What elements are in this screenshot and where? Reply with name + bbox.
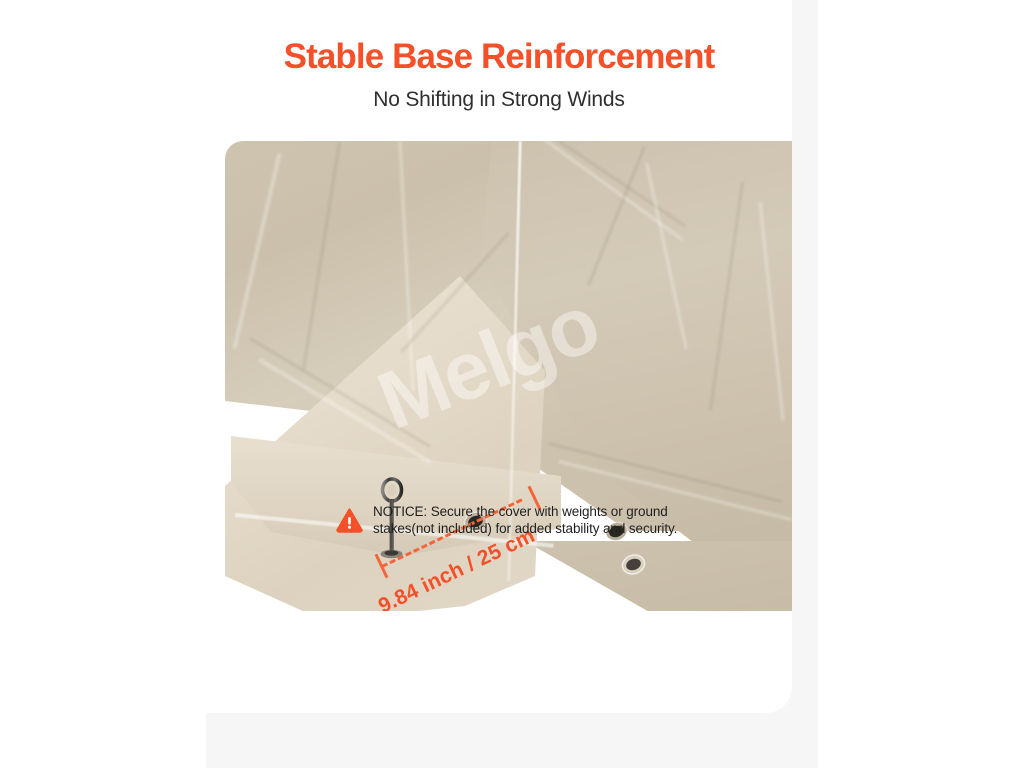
page-title: Stable Base Reinforcement <box>206 37 792 77</box>
warning-triangle-icon <box>336 508 363 533</box>
product-photo: Melgo <box>225 141 792 611</box>
fabric-hem-right <box>525 541 792 611</box>
page-subtitle: No Shifting in Strong Winds <box>206 88 792 112</box>
content-card: Stable Base Reinforcement No Shifting in… <box>206 0 792 713</box>
notice-block: NOTICE: Secure the cover with weights or… <box>336 503 696 537</box>
photo-canvas: Melgo <box>225 141 792 611</box>
page-root: Stable Base Reinforcement No Shifting in… <box>0 0 1024 768</box>
notice-text: NOTICE: Secure the cover with weights or… <box>373 503 696 537</box>
